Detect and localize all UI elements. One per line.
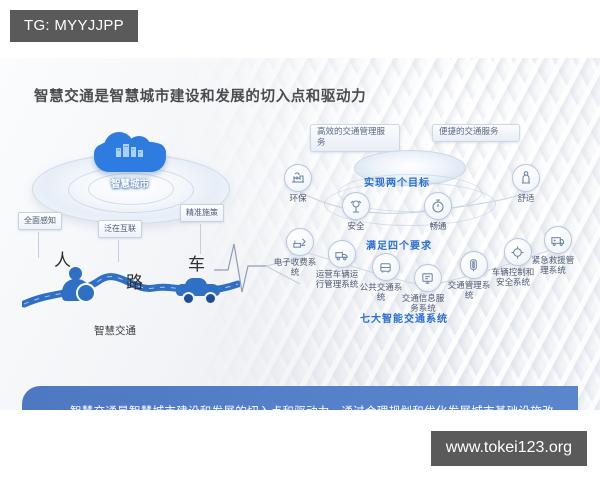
system-node-public-transit: 公共交通系统 (368, 253, 403, 304)
system-node-fleet: 运营车辆运行管理系统 (324, 240, 359, 291)
site-watermark: www.tokei123.org (431, 431, 587, 466)
chip-policy: 精准施策 (180, 204, 224, 222)
system-node-emergency-rescue: 紧急救援管理系统 (540, 226, 575, 277)
left-diagram: 智慧城市 全面感知 泛在互联 精准施策 人 路 车 智慧交通 (16, 120, 246, 355)
goal-node-safety: 安全 (342, 192, 370, 233)
goal-node-comfort: 舒适 (512, 164, 540, 205)
cloud-label: 智慧城市 (94, 176, 166, 190)
system-label: 电子收费系统 (273, 259, 317, 279)
goal-node-environment: 环保 (284, 164, 312, 205)
actor-vehicle-char: 车 (188, 250, 205, 275)
system-node-info-service: 交通信息服务系统 (410, 264, 445, 315)
goal-label: 安全 (342, 223, 370, 233)
steering-wheel-icon (76, 283, 96, 303)
info-service-icon (414, 264, 442, 292)
stopwatch-icon (424, 192, 452, 220)
car-wheel-front (182, 292, 195, 305)
system-label: 紧急救援管理系统 (531, 257, 575, 277)
leaf-factory-icon (284, 164, 312, 192)
requirements-heading: 满足四个要求 (366, 237, 432, 252)
bus-transit-icon (372, 253, 400, 281)
driver-figure-icon (60, 267, 94, 301)
chip-perception: 全面感知 (18, 212, 62, 230)
system-label: 交通管理系统 (447, 282, 491, 302)
goal-label: 环保 (284, 195, 312, 205)
system-label: 交通信息服务系统 (401, 295, 445, 315)
banner-convenient-service: 便捷的交通服务 (432, 124, 520, 142)
goal-node-smooth-flow: 畅通 (424, 192, 452, 233)
telegram-tag-badge: TG: MYYJJPP (10, 10, 138, 42)
system-label: 车辆控制和安全系统 (491, 269, 535, 289)
etc-toll-icon (286, 228, 314, 256)
goal-label: 舒适 (512, 195, 540, 205)
goal-label: 畅通 (424, 223, 452, 233)
system-label: 公共交通系统 (359, 284, 403, 304)
goals-heading: 实现两个目标 (364, 174, 430, 189)
banner-efficient-management: 高效的交通管理服务 (310, 124, 400, 152)
city-buildings-icon (114, 142, 146, 158)
system-node-traffic-management: 交通管理系统 (456, 251, 491, 302)
traffic-control-icon (460, 251, 488, 279)
system-node-etc: 电子收费系统 (282, 228, 317, 279)
vehicle-control-icon (504, 238, 532, 266)
slide-canvas: 智慧交通是智慧城市建设和发展的切入点和驱动力 (0, 58, 600, 410)
system-node-vehicle-control: 车辆控制和安全系统 (500, 238, 535, 289)
airbag-safety-icon (342, 192, 370, 220)
summary-text: 智慧交通是智慧城市建设和发展的切入点和驱动力，通过合理规划和优化发展城市基础设施… (46, 401, 554, 410)
emergency-rescue-icon (544, 226, 572, 254)
chip-connectivity: 泛在互联 (98, 220, 142, 238)
smart-city-cloud: 智慧城市 (94, 130, 166, 174)
slide-title: 智慧交通是智慧城市建设和发展的切入点和驱动力 (34, 85, 366, 106)
system-label: 运营车辆运行管理系统 (315, 271, 359, 291)
right-diagram: 高效的交通管理服务 便捷的交通服务 实现两个目标 满足四个要求 七大智能交通系统… (276, 120, 592, 360)
summary-callout-box: 智慧交通是智慧城市建设和发展的切入点和驱动力，通过合理规划和优化发展城市基础设施… (22, 386, 578, 410)
fleet-truck-icon (328, 240, 356, 268)
actor-road-char: 路 (126, 268, 143, 293)
comfort-seat-icon (512, 164, 540, 192)
smart-transport-label: 智慧交通 (94, 323, 136, 338)
